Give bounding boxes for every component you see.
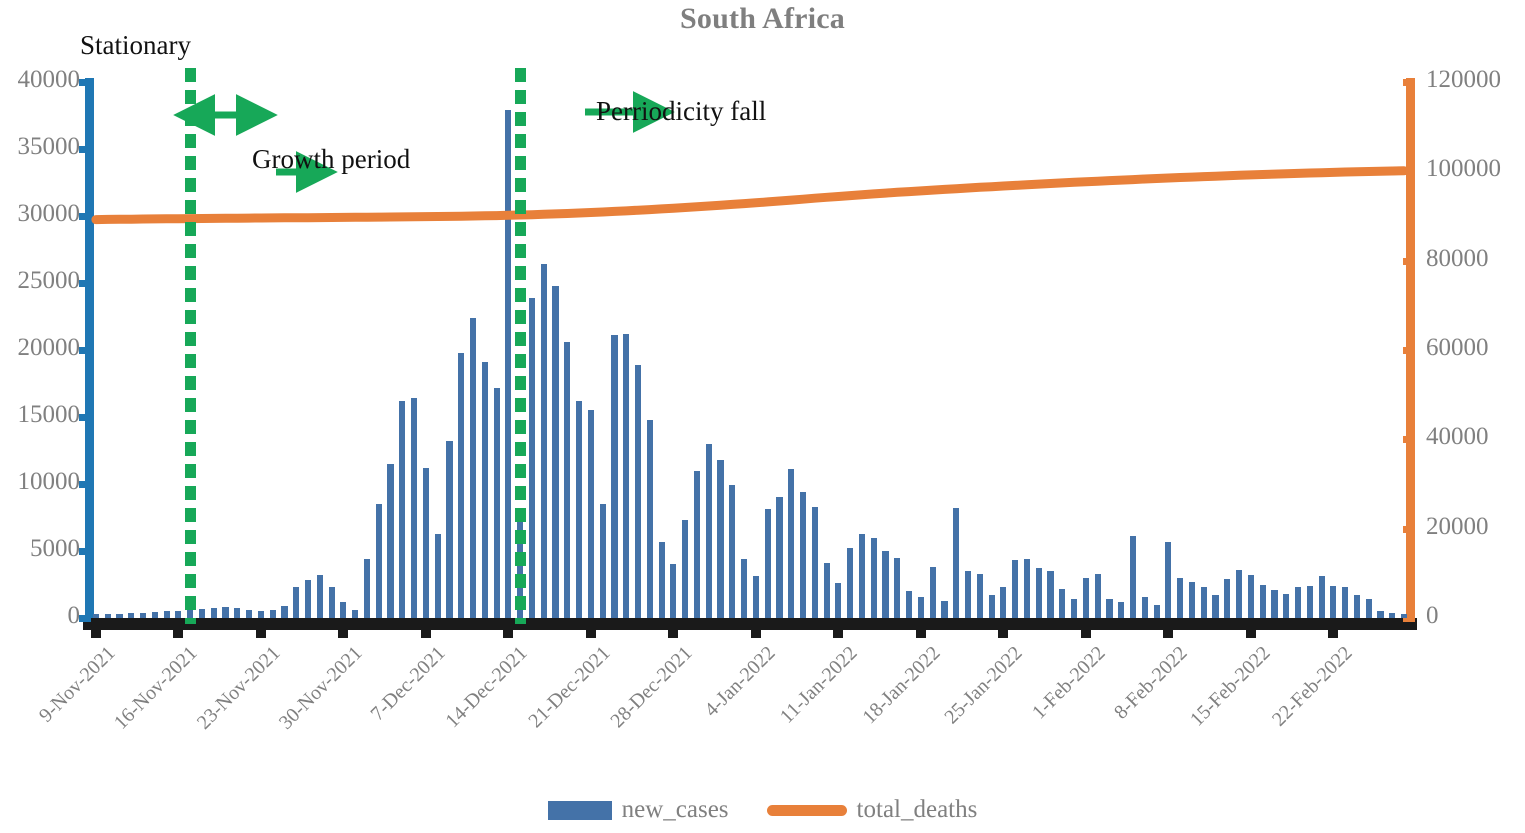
right-tick-label: 60000 [1426, 334, 1525, 362]
annotation-growth-period: Growth period [252, 144, 410, 175]
legend-line-swatch-icon [767, 805, 847, 816]
right-tick-label: 20000 [1426, 513, 1525, 541]
left-tick-label: 5000 [0, 535, 80, 563]
right-tick-label: 40000 [1426, 423, 1525, 451]
annotation-periodicity-fall: Perriodicity fall [596, 96, 766, 127]
chart-canvas: South Africa 050001000015000200002500030… [0, 0, 1525, 833]
left-tick-label: 30000 [0, 200, 80, 228]
chart-legend: new_cases total_deaths [0, 796, 1525, 824]
chart-title: South Africa [0, 2, 1525, 36]
left-tick-label: 25000 [0, 267, 80, 295]
right-tick-label: 120000 [1426, 66, 1525, 94]
left-tick-label: 10000 [0, 468, 80, 496]
legend-label-new-cases: new_cases [622, 796, 729, 824]
legend-label-total-deaths: total_deaths [857, 796, 978, 824]
left-tick-label: 20000 [0, 334, 80, 362]
left-tick-label: 35000 [0, 133, 80, 161]
right-tick-label: 0 [1426, 602, 1525, 630]
left-tick-label: 15000 [0, 401, 80, 429]
legend-item-new-cases[interactable]: new_cases [548, 796, 729, 824]
right-tick-label: 80000 [1426, 245, 1525, 273]
annotation-stationary: Stationary [80, 30, 191, 61]
plot-area: 0500010000150002000025000300003500040000… [90, 82, 1410, 622]
legend-item-total-deaths[interactable]: total_deaths [767, 796, 978, 824]
legend-bar-swatch-icon [548, 801, 612, 820]
left-tick-label: 40000 [0, 66, 80, 94]
right-tick-label: 100000 [1426, 155, 1525, 183]
left-tick-label: 0 [0, 602, 80, 630]
